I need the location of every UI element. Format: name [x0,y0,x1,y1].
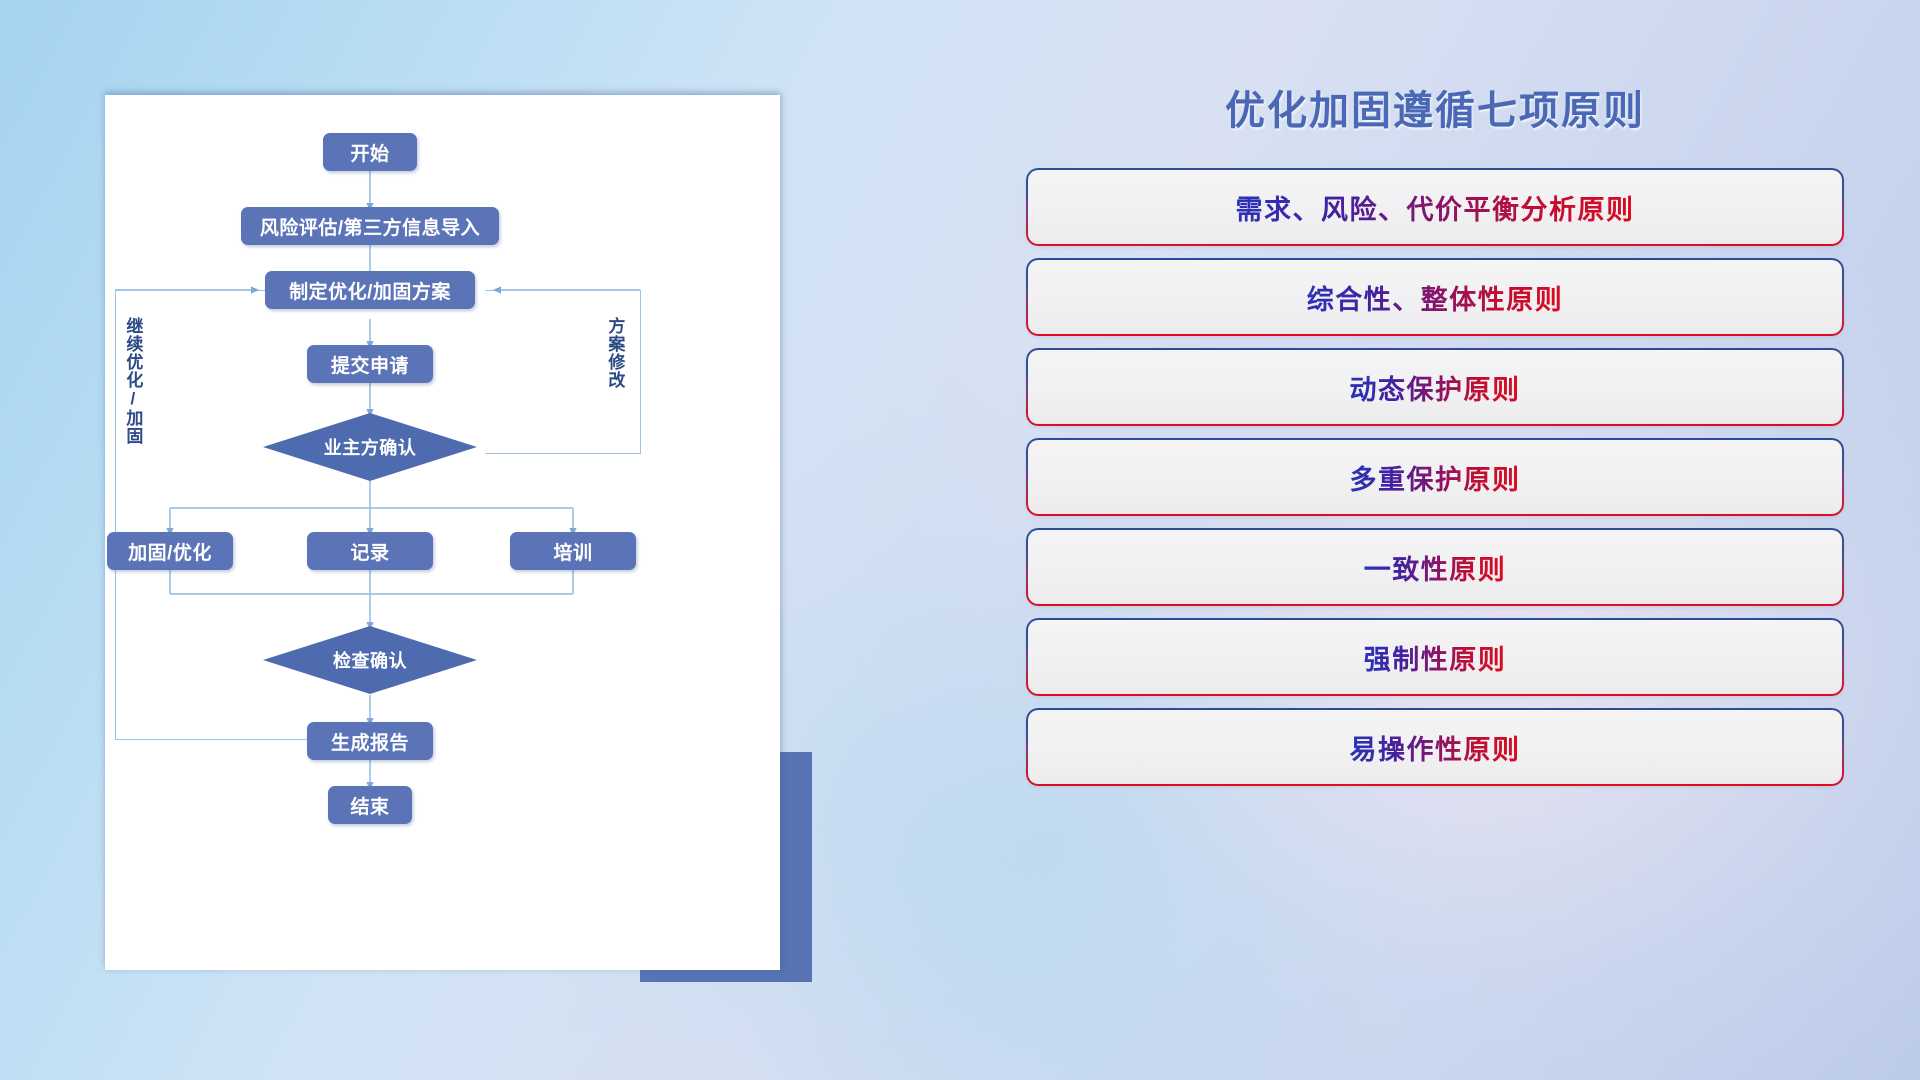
principles-title: 优化加固遵循七项原则 [1020,78,1850,136]
principles-panel: 优化加固遵循七项原则 需求、风险、代价平衡分析原则 综合性、整体性原则 动态保护… [1020,78,1850,1028]
flow-node-label: 培训 [553,538,592,565]
principle-card[interactable]: 多重保护原则 [1028,440,1842,514]
flow-node-label: 风险评估/第三方信息导入 [260,213,480,240]
flow-node-label: 记录 [350,538,389,565]
flow-node-reinforce[interactable]: 加固/优化 [107,532,233,570]
flow-node-label: 提交申请 [331,351,409,378]
flow-node-start[interactable]: 开始 [323,133,417,171]
principle-label: 多重保护原则 [1350,458,1521,497]
flow-node-plan[interactable]: 制定优化/加固方案 [265,271,475,309]
flow-node-label: 生成报告 [331,728,409,755]
flow-node-submit[interactable]: 提交申请 [307,345,433,383]
principle-card[interactable]: 动态保护原则 [1028,350,1842,424]
flow-node-label: 结束 [350,792,389,819]
flow-node-label: 开始 [350,139,389,166]
principle-label: 需求、风险、代价平衡分析原则 [1236,188,1635,227]
principle-label: 动态保护原则 [1350,368,1521,407]
principle-card[interactable]: 综合性、整体性原则 [1028,260,1842,334]
flow-node-end[interactable]: 结束 [328,786,412,824]
principle-card[interactable]: 易操作性原则 [1028,710,1842,784]
flow-node-risk-assessment[interactable]: 风险评估/第三方信息导入 [241,207,499,245]
edge-label-plan-revision: 方案修改 [605,317,623,389]
flow-node-label: 制定优化/加固方案 [289,277,451,304]
flow-node-record[interactable]: 记录 [307,532,433,570]
principle-card[interactable]: 强制性原则 [1028,620,1842,694]
principle-card[interactable]: 一致性原则 [1028,530,1842,604]
flow-node-training[interactable]: 培训 [510,532,636,570]
flowchart-panel: 开始 风险评估/第三方信息导入 制定优化/加固方案 提交申请 业主方确认 加固/… [105,95,780,970]
principle-label: 易操作性原则 [1350,728,1521,767]
principle-label: 一致性原则 [1364,548,1507,587]
principle-label: 综合性、整体性原则 [1307,278,1564,317]
flow-decision-owner-confirm[interactable]: 业主方确认 [263,413,477,481]
flow-node-label: 业主方确认 [324,434,417,460]
flow-decision-inspection[interactable]: 检查确认 [263,626,477,694]
flow-node-label: 加固/优化 [128,538,212,565]
edge-label-continue-optimize: 继续优化/加固 [123,317,141,445]
flow-node-report[interactable]: 生成报告 [307,722,433,760]
flow-node-label: 检查确认 [333,647,407,673]
principle-card[interactable]: 需求、风险、代价平衡分析原则 [1028,170,1842,244]
principle-label: 强制性原则 [1364,638,1507,677]
